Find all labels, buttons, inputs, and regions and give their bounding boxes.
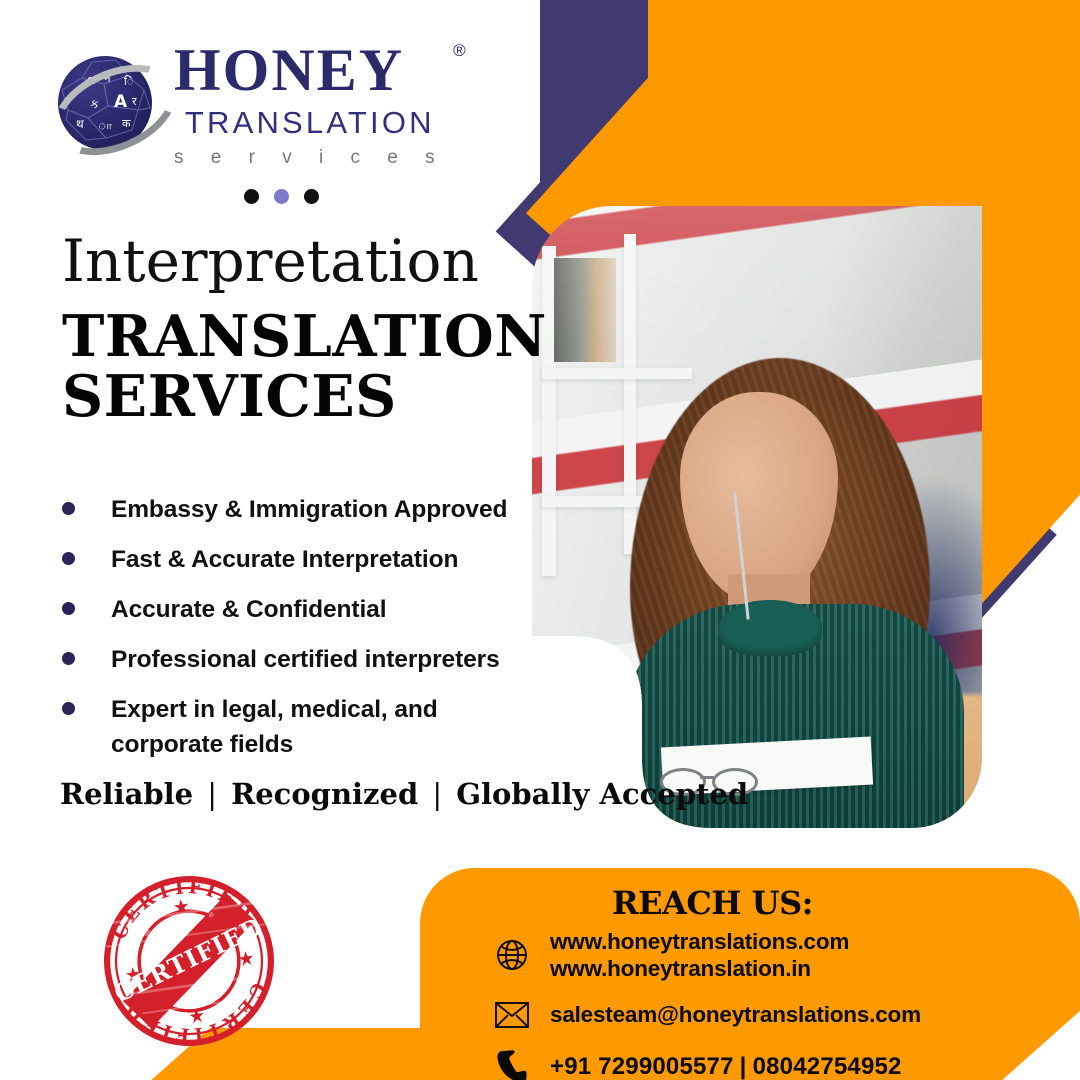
list-item: Fast & Accurate Interpretation [52, 542, 522, 577]
envelope-icon [492, 995, 532, 1035]
certified-stamp-icon: CERTIFIED CERTIFIED CERTIFIED [88, 860, 289, 1061]
contact-heading: REACH US: [612, 884, 813, 922]
feature-list: Embassy & Immigration Approved Fast & Ac… [52, 492, 522, 777]
contact-row-email[interactable]: salesteam@honeytranslations.com [492, 995, 921, 1035]
logo-row: ക न ि ੊ ક A र थ ா क HONEY [52, 40, 472, 167]
tagline-part-2: Recognized [231, 777, 418, 811]
page-title: Interpretation TRANSLATION SERVICES [62, 232, 547, 429]
tagline-separator-1: | [203, 777, 221, 811]
list-item: Expert in legal, medical, and corporate … [52, 692, 522, 762]
website-primary[interactable]: www.honeytranslations.com [550, 928, 849, 955]
logo-brand-tagline: s e r v i c e s [174, 148, 446, 167]
tagline-part-1: Reliable [60, 777, 193, 811]
globe-languages-icon: ക न ि ੊ ક A र थ ா क [52, 48, 164, 160]
list-item-label: Expert in legal, medical, and corporate … [111, 692, 451, 762]
contact-details: www.honeytranslations.com www.honeytrans… [492, 928, 921, 1080]
brand-logo[interactable]: ക न ि ੊ ક A र थ ா क HONEY [52, 40, 472, 204]
list-item-label: Fast & Accurate Interpretation [111, 542, 458, 577]
poster-canvas: ക न ि ੊ ક A र थ ா क HONEY [0, 0, 1080, 1080]
interpreter-photo [532, 206, 982, 828]
bullet-dot-icon [62, 702, 75, 715]
logo-dot-2 [274, 189, 289, 204]
website-lines: www.honeytranslations.com www.honeytrans… [550, 928, 849, 983]
bullet-dot-icon [62, 502, 75, 515]
contact-row-website[interactable]: www.honeytranslations.com www.honeytrans… [492, 928, 921, 983]
list-item-label: Accurate & Confidential [111, 592, 386, 627]
bullet-dot-icon [62, 552, 75, 565]
phone-separator: | [734, 1053, 753, 1080]
list-item: Professional certified interpreters [52, 642, 522, 677]
list-item: Embassy & Immigration Approved [52, 492, 522, 527]
bullet-dot-icon [62, 602, 75, 615]
phone-secondary[interactable]: 08042754952 [753, 1053, 902, 1080]
phone-icon [492, 1047, 532, 1080]
logo-brand-sub: TRANSLATION [174, 107, 446, 138]
photo-overlay [532, 206, 982, 828]
logo-dot-3 [304, 189, 319, 204]
registered-trademark-icon: ® [453, 42, 468, 59]
list-item-label: Professional certified interpreters [111, 642, 500, 677]
tagline: Reliable | Recognized | Globally Accepte… [60, 777, 748, 811]
tagline-part-3: Globally Accepted [456, 777, 748, 811]
headline-script-line: Interpretation [62, 232, 547, 290]
list-item-label: Embassy & Immigration Approved [111, 492, 507, 527]
website-secondary[interactable]: www.honeytranslation.in [550, 955, 849, 982]
logo-brand-name: HONEY [174, 37, 404, 103]
logo-dots [244, 189, 319, 204]
phone-numbers: +91 7299005577|08042754952 [550, 1052, 902, 1080]
headline-main-line-1: TRANSLATION [62, 304, 547, 370]
logo-wordmark: HONEY ® TRANSLATION s e r v i c e s [174, 40, 446, 167]
phone-primary[interactable]: +91 7299005577 [550, 1053, 734, 1080]
email-address[interactable]: salesteam@honeytranslations.com [550, 1001, 921, 1028]
tagline-separator-2: | [428, 777, 446, 811]
globe-icon [492, 935, 532, 975]
logo-dot-1 [244, 189, 259, 204]
contact-row-phone[interactable]: +91 7299005577|08042754952 [492, 1047, 921, 1080]
headline-main-line-2: SERVICES [62, 364, 547, 430]
list-item: Accurate & Confidential [52, 592, 522, 627]
bullet-dot-icon [62, 652, 75, 665]
